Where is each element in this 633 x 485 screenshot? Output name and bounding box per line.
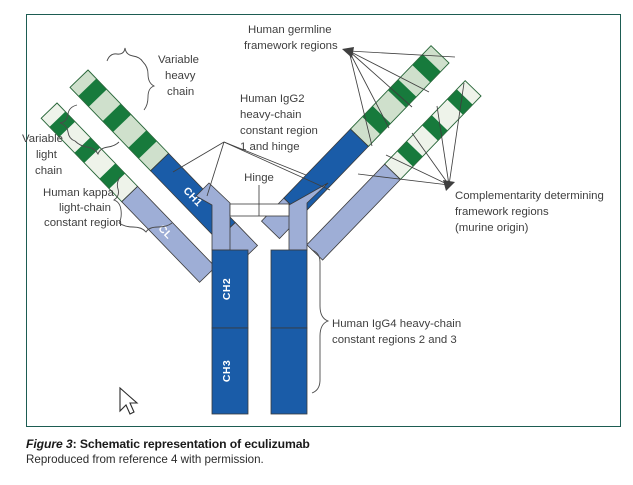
label-human-igg2: Human IgG2 heavy-chain constant region 1… [240,93,318,153]
label-variable-heavy-chain: Variable heavy chain [158,54,199,98]
label-variable-light-chain: Variable light chain [22,133,63,177]
svg-text:constant region: constant region [240,125,318,137]
svg-text:Human germline: Human germline [248,24,332,36]
svg-text:framework regions: framework regions [244,40,338,52]
svg-text:constant regions 2 and 3: constant regions 2 and 3 [332,334,457,346]
figure-root: CH1 CL [0,0,633,485]
label-human-igg4: Human IgG4 heavy-chain constant regions … [332,318,461,346]
label-human-kappa: Human kappa light-chain constant region [43,187,122,229]
svg-text:(murine origin): (murine origin) [455,222,529,234]
svg-text:chain: chain [167,86,194,98]
caption-figure-number: Figure 3 [26,437,73,451]
caption-title-line: Figure 3: Schematic representation of ec… [26,437,621,451]
ch3-right-domain [271,328,307,414]
fc-left-heavy-chain: CH2 CH3 [212,250,248,414]
svg-text:light: light [36,149,58,161]
caption-separator: : [73,437,80,451]
svg-text:constant region: constant region [44,217,122,229]
label-cdr-murine: Complementarity determining framework re… [455,190,604,234]
svg-text:Variable: Variable [22,133,63,145]
hinge-connector [230,185,289,216]
label-human-germline: Human germline framework regions [244,24,338,52]
svg-text:heavy: heavy [165,70,196,82]
ch2-right-domain [271,250,307,328]
caption-title-text: Schematic representation of eculizumab [80,437,310,451]
fc-right-heavy-chain [271,250,307,414]
svg-text:heavy-chain: heavy-chain [240,109,301,121]
antibody-schematic-diagram: CH1 CL [0,0,633,485]
svg-text:1 and hinge: 1 and hinge [240,141,300,153]
hinge-label: Hinge [244,172,274,184]
svg-text:Human IgG2: Human IgG2 [240,93,305,105]
svg-text:Complementarity determining: Complementarity determining [455,190,604,202]
brace-human-igg4 [312,250,328,393]
figure-caption: Figure 3: Schematic representation of ec… [26,437,621,466]
svg-text:framework regions: framework regions [455,206,549,218]
svg-text:Human IgG4 heavy-chain: Human IgG4 heavy-chain [332,318,461,330]
svg-text:Variable: Variable [158,54,199,66]
svg-text:Human kappa: Human kappa [43,187,115,199]
svg-text:chain: chain [35,165,62,177]
ch2-label: CH2 [221,278,233,300]
ch3-label: CH3 [221,360,233,382]
svg-text:light-chain: light-chain [59,202,111,214]
mouse-cursor [120,388,137,414]
caption-credit-line: Reproduced from reference 4 with permiss… [26,453,621,466]
